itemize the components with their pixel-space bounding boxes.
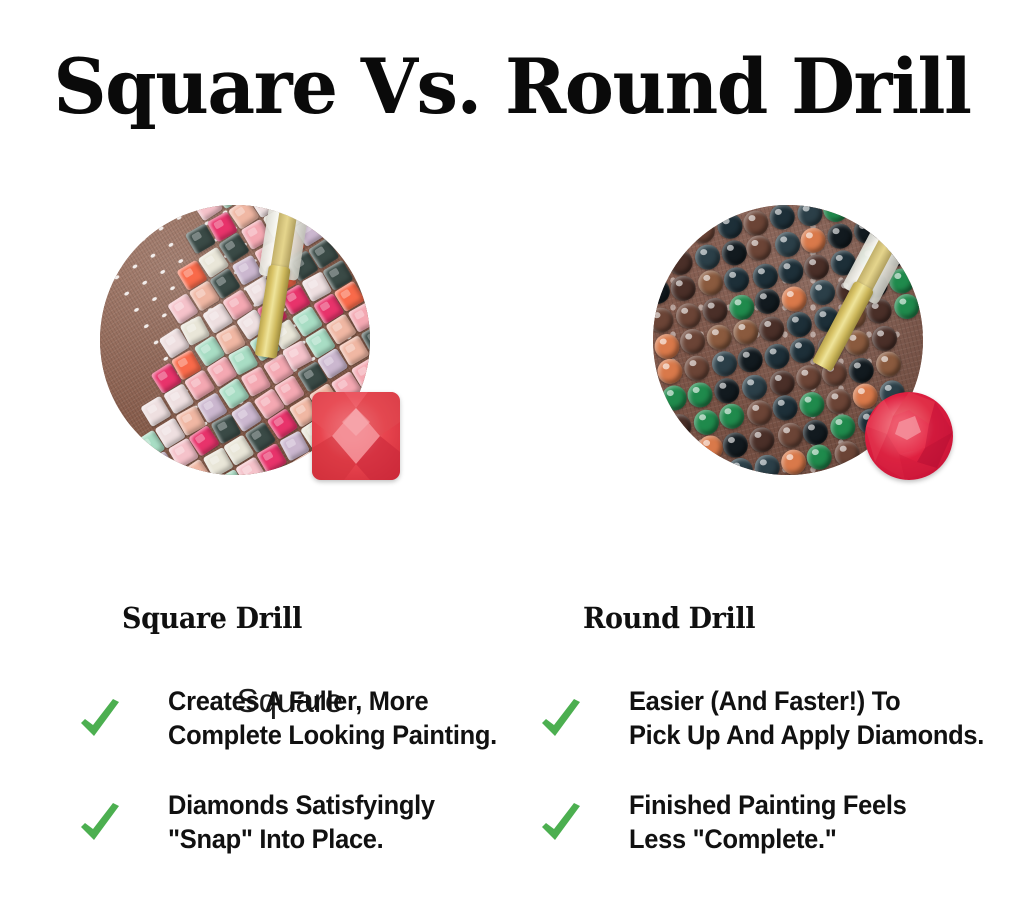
round-drill-bead [653,442,670,471]
bullet-text: Easier (And Faster!) To Pick Up And Appl… [629,684,1007,752]
round-drill-bead [825,387,854,416]
round-drill-bead [693,243,722,272]
list-item: Finished Painting Feels Less "Complete." [583,788,1023,864]
photo-block-square: Square [55,196,415,536]
round-drill-bead [910,235,923,264]
round-drill-bead [653,205,658,227]
square-gem-facets [312,392,400,480]
photo-block-round: Round [608,196,968,536]
round-drill-bead [768,205,797,231]
round-gem-facets [865,392,953,480]
round-drill-bead [753,453,782,475]
round-drill-bead [716,212,745,241]
round-drill-bead [688,217,717,246]
round-drill-bead [705,323,734,352]
bullet-text: Finished Painting Feels Less "Complete." [629,788,1007,856]
round-drill-bead [653,251,669,280]
round-drill-bead [825,222,854,251]
round-drill-bead [795,205,824,228]
round-drill-bead [874,350,903,379]
round-drill-bead [762,342,791,371]
round-drill-bead [728,293,757,322]
round-drill-bead [784,310,813,339]
list-item: Creates A Fuller, More Complete Looking … [122,684,562,760]
round-drill-bead [664,412,693,441]
round-drill-bead [915,263,923,292]
page-title: Square Vs. Round Drill [15,44,1008,130]
round-drill-bead [661,220,690,249]
round-drill-bead [753,287,782,316]
bullet-list-square: Creates A Fuller, More Complete Looking … [122,684,562,864]
list-item: Diamonds Satisfyingly "Snap" Into Place. [122,788,562,864]
round-drill-bead [737,205,766,210]
round-drill-bead [672,464,701,475]
round-drill-bead [669,273,698,302]
column-heading-round: Round Drill [583,600,992,636]
list-item: Easier (And Faster!) To Pick Up And Appl… [583,684,1023,760]
comparison-column-round: Round Drill Easier (And Faster!) To Pick… [583,600,1023,892]
bullet-text: Creates A Fuller, More Complete Looking … [168,684,546,752]
round-drill-bead [798,391,827,420]
round-drill-bead [657,205,686,223]
round-drill-bead [828,413,857,442]
round-drill-bead [736,346,765,375]
bullet-text: Diamonds Satisfyingly "Snap" Into Place. [168,788,546,856]
round-drill-bead [696,434,725,463]
check-icon [78,802,122,848]
round-drill-bead [683,205,712,219]
round-drill-bead [802,252,831,281]
round-drill-bead [745,398,774,427]
round-drill-bead [701,296,730,325]
comparison-column-square: Square Drill Creates A Fuller, More Comp… [122,600,562,892]
check-icon [539,802,583,848]
round-drill-bead [669,438,698,467]
round-drill-bead [696,269,725,298]
round-drill-bead [745,234,774,263]
round-drill-bead [821,205,850,224]
round-drill-bead [686,381,715,410]
check-icon [78,698,122,744]
round-drill-bead [741,209,770,238]
round-drill-bead [784,474,813,475]
bullet-list-round: Easier (And Faster!) To Pick Up And Appl… [583,684,1023,864]
round-drill-bead [799,226,828,255]
round-drill-bead [721,431,750,460]
check-icon [539,698,583,744]
round-drill-bead [892,293,921,322]
round-drill-bead [665,248,694,277]
round-drill-bead [848,205,877,220]
round-drill-bead [780,284,809,313]
round-drill-bead [777,257,806,286]
round-drill-bead [805,443,834,472]
round-drill-bead [692,408,721,437]
round-drill-bead [679,327,708,356]
round-drill-bead [653,389,663,418]
round-drill-bead [776,421,805,450]
pen-tip [255,264,291,358]
round-drill-bead [656,357,685,386]
round-drill-bead [801,418,830,447]
round-drill-bead [833,440,862,469]
round-drill-bead [741,373,770,402]
round-drill-bead [771,394,800,423]
round-drill-bead [653,277,672,306]
round-drill-bead [653,332,681,361]
round-drill-bead [713,376,742,405]
round-drill-bead [810,471,839,475]
round-drill-bead [660,384,689,413]
round-drill-bead [748,425,777,454]
round-drill-bead [722,265,751,294]
round-drill-bead [710,350,739,379]
round-drill-bead [773,230,802,259]
round-drill-bead [720,238,749,267]
round-drill-bead [653,416,667,445]
round-drill-bead [794,364,823,393]
round-drill-bead [653,306,675,335]
round-drill-bead [717,402,746,431]
round-drill-bead [683,354,712,383]
round-drill-bead [750,262,779,291]
round-drill-bead [919,289,923,318]
round-drill-bead [709,205,738,214]
round-drill-bead [870,324,899,353]
round-gem-icon [865,392,953,480]
round-drill-bead [700,460,729,475]
round-drill-bead [847,356,876,385]
round-drill-bead [768,369,797,398]
round-drill-bead [780,447,809,475]
round-drill-bead [731,318,760,347]
round-drill-bead [758,315,787,344]
column-heading-square: Square Drill [122,600,531,636]
round-drill-bead [653,469,674,475]
square-gem-icon [312,392,400,480]
round-drill-bead [726,456,755,475]
round-drill-bead [674,301,703,330]
